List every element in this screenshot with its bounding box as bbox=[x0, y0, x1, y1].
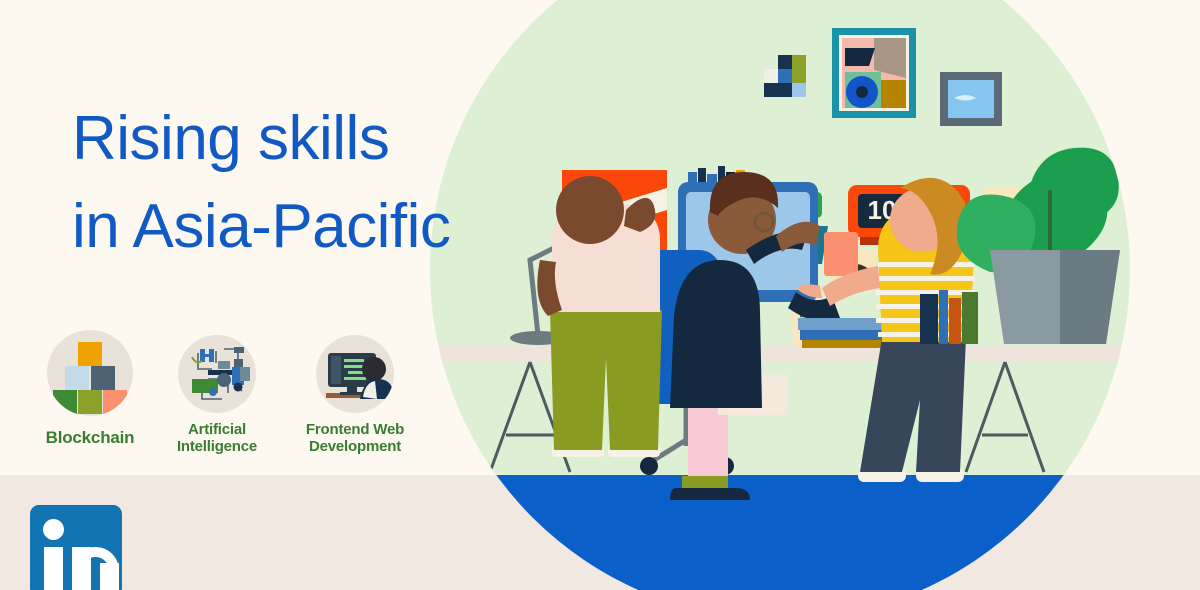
headline-line-2: in Asia-Pacific bbox=[72, 183, 592, 271]
rising-skills-list: Blockchain bbox=[22, 330, 452, 470]
skill-label-frontend-web-development: Frontend WebDevelopment bbox=[290, 421, 420, 456]
blockchain-blocks-icon bbox=[47, 330, 133, 416]
abstract-framed-art bbox=[832, 28, 916, 118]
linkedin-i-stem bbox=[44, 547, 63, 590]
linkedin-n-right-stem bbox=[100, 563, 119, 590]
page-title: Rising skills in Asia-Pacific bbox=[72, 95, 592, 271]
window-picture bbox=[940, 72, 1002, 126]
skill-item-blockchain[interactable]: Blockchain bbox=[25, 330, 155, 448]
desk-leg-right bbox=[966, 362, 1044, 472]
office-team-illustration: 10 37 bbox=[430, 0, 1130, 590]
linkedin-logo-icon[interactable] bbox=[30, 505, 122, 590]
skill-item-artificial-intelligence[interactable]: ArtificialIntelligence bbox=[152, 335, 282, 456]
poster-canvas: 10 37 bbox=[0, 0, 1200, 590]
headline-line-1: Rising skills bbox=[72, 104, 389, 173]
desk-books bbox=[798, 318, 884, 348]
desk-books-right bbox=[920, 290, 978, 344]
skill-label-artificial-intelligence: ArtificialIntelligence bbox=[152, 421, 282, 456]
skill-label-blockchain: Blockchain bbox=[25, 428, 155, 448]
pixel-art-tile bbox=[764, 55, 806, 97]
linkedin-i-dot bbox=[43, 519, 64, 540]
frontend-monitor-icon bbox=[316, 335, 394, 413]
ai-network-icon bbox=[178, 335, 256, 413]
skill-item-frontend-web-development[interactable]: Frontend WebDevelopment bbox=[290, 335, 420, 456]
monstera-plant bbox=[957, 148, 1120, 344]
desk-surface bbox=[430, 345, 1130, 361]
